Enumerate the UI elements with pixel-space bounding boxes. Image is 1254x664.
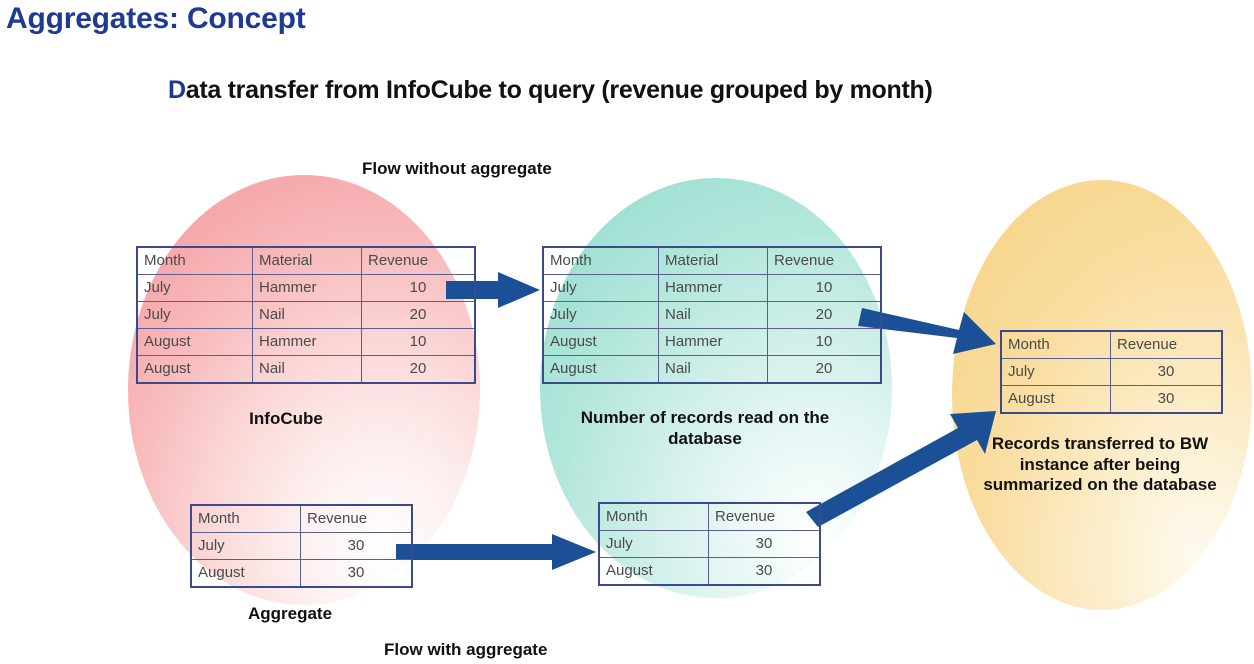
table-row: July30	[1001, 359, 1222, 386]
table-header-cell: Month	[1001, 331, 1111, 359]
table-header-row: MonthMaterialRevenue	[137, 247, 475, 275]
table-cell: 30	[1111, 386, 1223, 414]
table-cell: July	[1001, 359, 1111, 386]
table-cell: July	[137, 275, 253, 302]
table-cell: August	[191, 560, 301, 588]
table-cell: Nail	[659, 302, 768, 329]
table-row: AugustNail20	[543, 356, 881, 384]
table-row: August30	[191, 560, 412, 588]
table-header-cell: Month	[543, 247, 659, 275]
table-row: JulyHammer10	[543, 275, 881, 302]
table-cell: August	[1001, 386, 1111, 414]
table-infocube: MonthMaterialRevenueJulyHammer10JulyNail…	[136, 246, 476, 384]
table-cell: Nail	[253, 302, 362, 329]
table-cell: August	[137, 356, 253, 384]
caption-transferred: Records transferred to BW instance after…	[972, 434, 1228, 496]
table-row: AugustHammer10	[137, 329, 475, 356]
table-header-row: MonthRevenue	[599, 503, 820, 531]
table-cell: Hammer	[253, 329, 362, 356]
table-transferred: MonthRevenueJuly30August30	[1000, 330, 1223, 414]
table-row: AugustHammer10	[543, 329, 881, 356]
table-row: JulyHammer10	[137, 275, 475, 302]
table-cell: July	[543, 302, 659, 329]
table-cell: 20	[768, 356, 882, 384]
table-cell: Nail	[659, 356, 768, 384]
slide-canvas: Aggregates: Concept Data transfer from I…	[0, 0, 1254, 664]
table-cell: 30	[301, 533, 413, 560]
label-flow-with-aggregate: Flow with aggregate	[384, 640, 547, 660]
table-header-cell: Month	[599, 503, 709, 531]
table-cell: July	[543, 275, 659, 302]
caption-records-read: Number of records read on the database	[560, 408, 850, 449]
table-row: JulyNail20	[137, 302, 475, 329]
table-cell: 20	[768, 302, 882, 329]
table-cell: 10	[768, 275, 882, 302]
table-header-cell: Revenue	[709, 503, 821, 531]
table-cell: August	[137, 329, 253, 356]
table-cell: 10	[768, 329, 882, 356]
arrow-aggregate-to-db	[396, 534, 596, 570]
table-cell: August	[599, 558, 709, 586]
table-header-row: MonthMaterialRevenue	[543, 247, 881, 275]
table-header-cell: Material	[659, 247, 768, 275]
table-header-row: MonthRevenue	[191, 505, 412, 533]
table-cell: August	[543, 356, 659, 384]
table-row: July30	[191, 533, 412, 560]
table-row: JulyNail20	[543, 302, 881, 329]
table-cell: 30	[709, 531, 821, 558]
table-cell: 20	[362, 356, 476, 384]
table-cell: 30	[301, 560, 413, 588]
table-row: AugustNail20	[137, 356, 475, 384]
table-cell: 10	[362, 275, 476, 302]
table-cell: Hammer	[659, 329, 768, 356]
table-cell: August	[543, 329, 659, 356]
table-row: August30	[599, 558, 820, 586]
table-cell: July	[137, 302, 253, 329]
table-header-row: MonthRevenue	[1001, 331, 1222, 359]
label-flow-without-aggregate: Flow without aggregate	[362, 159, 552, 179]
table-db-aggregate: MonthRevenueJuly30August30	[598, 502, 821, 586]
table-row: August30	[1001, 386, 1222, 414]
table-cell: July	[599, 531, 709, 558]
table-cell: 30	[709, 558, 821, 586]
table-header-cell: Material	[253, 247, 362, 275]
caption-infocube: InfoCube	[136, 409, 436, 430]
table-row: July30	[599, 531, 820, 558]
table-header-cell: Month	[137, 247, 253, 275]
table-cell: 20	[362, 302, 476, 329]
table-aggregate: MonthRevenueJuly30August30	[190, 504, 413, 588]
table-header-cell: Revenue	[1111, 331, 1223, 359]
table-header-cell: Month	[191, 505, 301, 533]
table-header-cell: Revenue	[362, 247, 476, 275]
table-cell: July	[191, 533, 301, 560]
table-cell: Hammer	[659, 275, 768, 302]
table-cell: 10	[362, 329, 476, 356]
table-cell: 30	[1111, 359, 1223, 386]
table-records-read: MonthMaterialRevenueJulyHammer10JulyNail…	[542, 246, 882, 384]
table-header-cell: Revenue	[301, 505, 413, 533]
table-cell: Hammer	[253, 275, 362, 302]
caption-aggregate: Aggregate	[190, 604, 390, 625]
table-header-cell: Revenue	[768, 247, 882, 275]
table-cell: Nail	[253, 356, 362, 384]
